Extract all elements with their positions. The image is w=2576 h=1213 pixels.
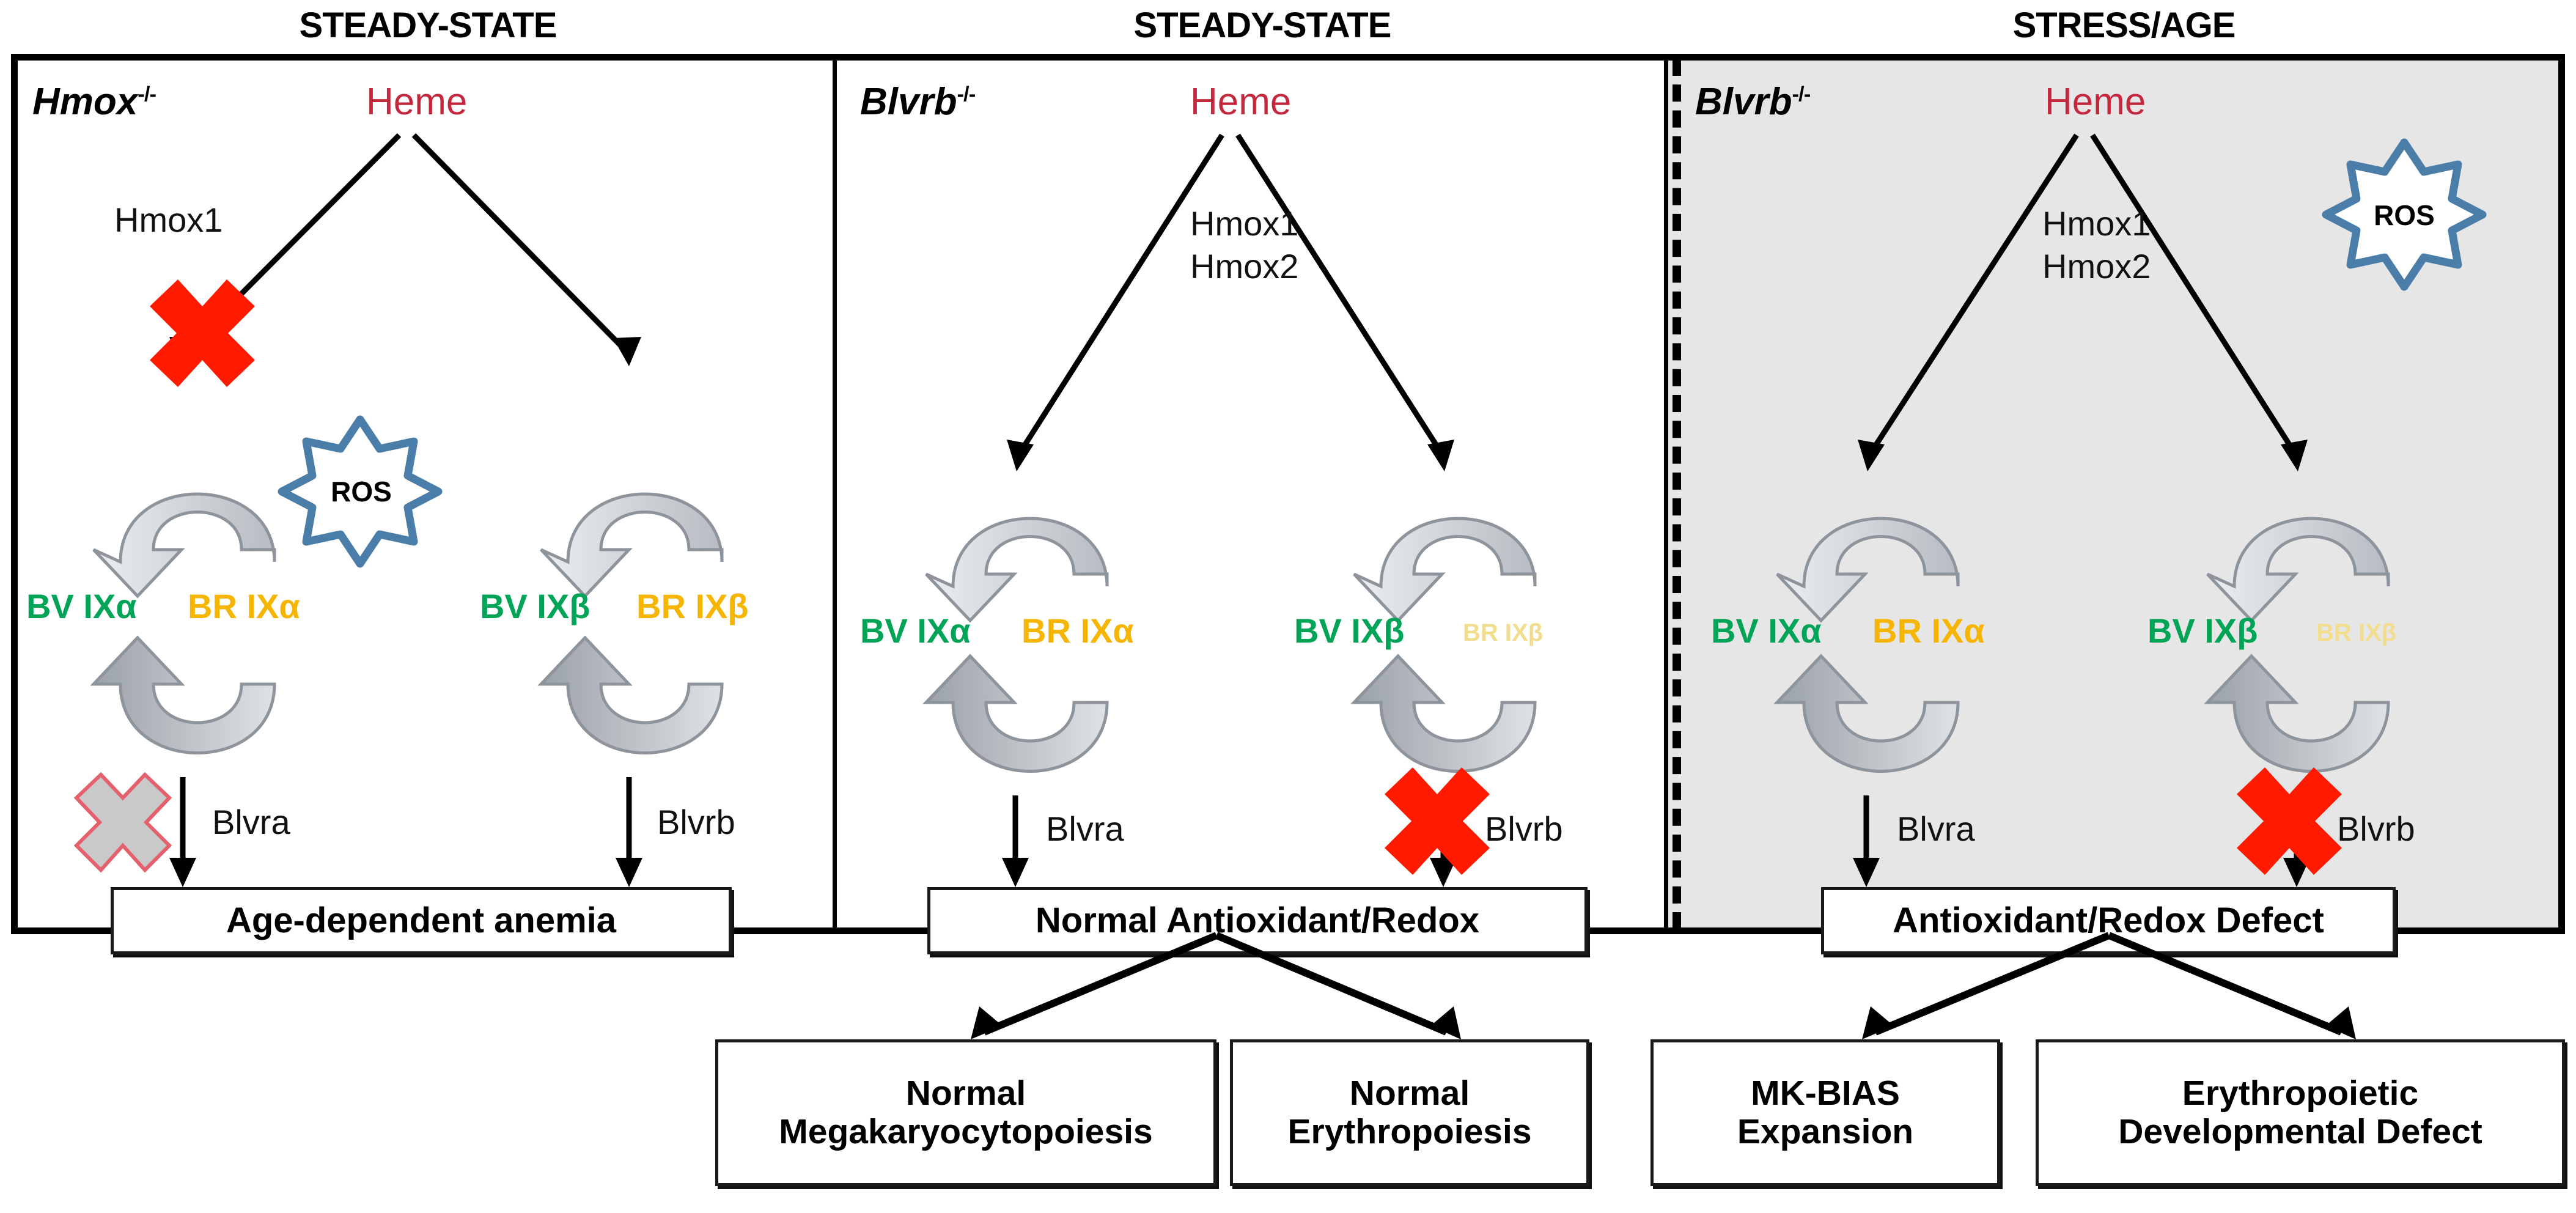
cycle-arrow-lower-right — [541, 638, 722, 753]
arrowhead-right — [613, 337, 641, 366]
block-x-hmox1 — [150, 279, 255, 387]
arrowhead-blvra-p3 — [1853, 858, 1880, 887]
panel-header-steady-state-2: STEADY-STATE — [834, 5, 1690, 46]
ros-label-p3: ROS — [2361, 199, 2447, 232]
panel3-dashed-divider — [1673, 59, 1681, 929]
branch-arrow-panel2 — [984, 935, 1446, 1032]
panel2-graphics — [837, 61, 1668, 941]
cycle-arrow-lower-left-p2 — [926, 656, 1107, 772]
enzyme-label-blvrb-p2: Blvrb — [1485, 810, 1563, 849]
downstream-box-normal-erythropoiesis: Normal Erythropoiesis — [1230, 1039, 1589, 1186]
panel3-graphics — [1668, 61, 2558, 941]
arrowhead-right-p3 — [2281, 440, 2308, 471]
panel-blvrb-ko-steady: Blvrb-/- Heme — [837, 61, 1668, 927]
cycle-arrow-upper-right — [541, 494, 722, 596]
downstream-line1: MK-BIAS — [1751, 1074, 1900, 1113]
cycle-arrow-lower-right-p2 — [1354, 656, 1535, 772]
heme-split-arrow-right — [414, 135, 629, 354]
enzyme-label-blvrb-p1: Blvrb — [657, 803, 735, 842]
enzyme-label-blvra-p1: Blvra — [212, 803, 290, 842]
cycle-arrow-lower-left-p3 — [1777, 656, 1958, 772]
cycle-arrow-upper-right-p3 — [2207, 518, 2388, 621]
metabolite-bv-ixa-p1: BV IXα — [26, 586, 137, 626]
enzyme-label-hmox1-p3: Hmox1 — [2042, 205, 2151, 243]
cycle-arrow-upper-left-p2 — [926, 518, 1107, 621]
downstream-box-mk-bias-expansion: MK-BIAS Expansion — [1650, 1039, 2000, 1186]
heme-split-arrow-right-p2 — [1238, 135, 1444, 458]
enzyme-label-hmox2-p3: Hmox2 — [2042, 248, 2151, 286]
arrowhead-blvra-p2 — [1002, 858, 1029, 887]
diagram-frame: Hmox-/- Heme — [11, 54, 2565, 934]
downstream-line2: Developmental Defect — [2118, 1113, 2482, 1151]
block-x-blvra-faded — [76, 775, 169, 870]
metabolite-bv-ixb-p2: BV IXβ — [1294, 611, 1404, 651]
heme-split-arrow-right-p3 — [2092, 135, 2298, 458]
downstream-box-erythropoietic-developmental-defect: Erythropoietic Developmental Defect — [2036, 1039, 2565, 1186]
metabolite-br-ixa-p3: BR IXα — [1872, 611, 1985, 651]
heme-split-arrow-left-p2 — [1017, 135, 1222, 458]
metabolite-bv-ixb-p3: BV IXβ — [2147, 611, 2258, 651]
cycle-arrow-upper-left — [94, 494, 274, 596]
enzyme-label-blvra-p3: Blvra — [1897, 810, 1975, 849]
arrowhead-blvra — [169, 858, 196, 887]
panel-blvrb-ko-stress: Blvrb-/- Heme — [1668, 61, 2558, 927]
ros-label-p1: ROS — [318, 475, 404, 508]
cycle-arrow-lower-left — [94, 638, 274, 753]
arrowhead-blvrb — [616, 858, 642, 887]
arrowhead-right-p2 — [1427, 440, 1454, 471]
cycle-arrow-lower-right-p3 — [2207, 656, 2388, 772]
cycle-arrow-upper-left-p3 — [1777, 518, 1958, 621]
downstream-line2: Erythropoiesis — [1287, 1113, 1531, 1151]
enzyme-label-hmox1-p2: Hmox1 — [1190, 205, 1298, 243]
metabolite-br-ixb-p2: BR IXβ — [1463, 619, 1543, 647]
downstream-box-normal-megakaryocytopoiesis: Normal Megakaryocytopoiesis — [715, 1039, 1216, 1186]
metabolite-br-ixa-p2: BR IXα — [1021, 611, 1134, 651]
branch-arrow-panel3 — [1875, 935, 2341, 1032]
arrowhead-erythro-defect — [2325, 1006, 2356, 1039]
metabolite-bv-ixa-p2: BV IXα — [860, 611, 971, 651]
downstream-line1: Erythropoietic — [2182, 1074, 2418, 1113]
arrowhead-erythro — [1430, 1006, 1461, 1039]
panel-hmox-ko: Hmox-/- Heme — [18, 61, 837, 927]
downstream-line2: Expansion — [1737, 1113, 1913, 1151]
metabolite-br-ixb-p3: BR IXβ — [2316, 619, 2396, 647]
enzyme-label-hmox2-p2: Hmox2 — [1190, 248, 1298, 286]
downstream-line2: Megakaryocytopoiesis — [779, 1113, 1152, 1151]
enzyme-label-blvra-p2: Blvra — [1046, 810, 1124, 849]
enzyme-label-blvrb-p3: Blvrb — [2337, 810, 2415, 849]
enzyme-label-hmox1-p1: Hmox1 — [114, 201, 223, 240]
cycle-arrow-upper-right-p2 — [1354, 518, 1535, 621]
arrowhead-left-p2 — [1007, 440, 1034, 471]
panel-header-steady-state-1: STEADY-STATE — [0, 5, 856, 46]
metabolite-br-ixa-p1: BR IXα — [188, 586, 300, 626]
arrowhead-left-p3 — [1858, 440, 1885, 471]
downstream-line1: Normal — [1350, 1074, 1470, 1113]
heme-split-arrow-left-p3 — [1868, 135, 2077, 458]
metabolite-bv-ixa-p3: BV IXα — [1711, 611, 1822, 651]
metabolite-bv-ixb-p1: BV IXβ — [480, 586, 590, 626]
downstream-line1: Normal — [906, 1074, 1026, 1113]
metabolite-br-ixb-p1: BR IXβ — [636, 586, 749, 626]
panel-header-stress-age: STRESS/AGE — [1672, 5, 2576, 46]
